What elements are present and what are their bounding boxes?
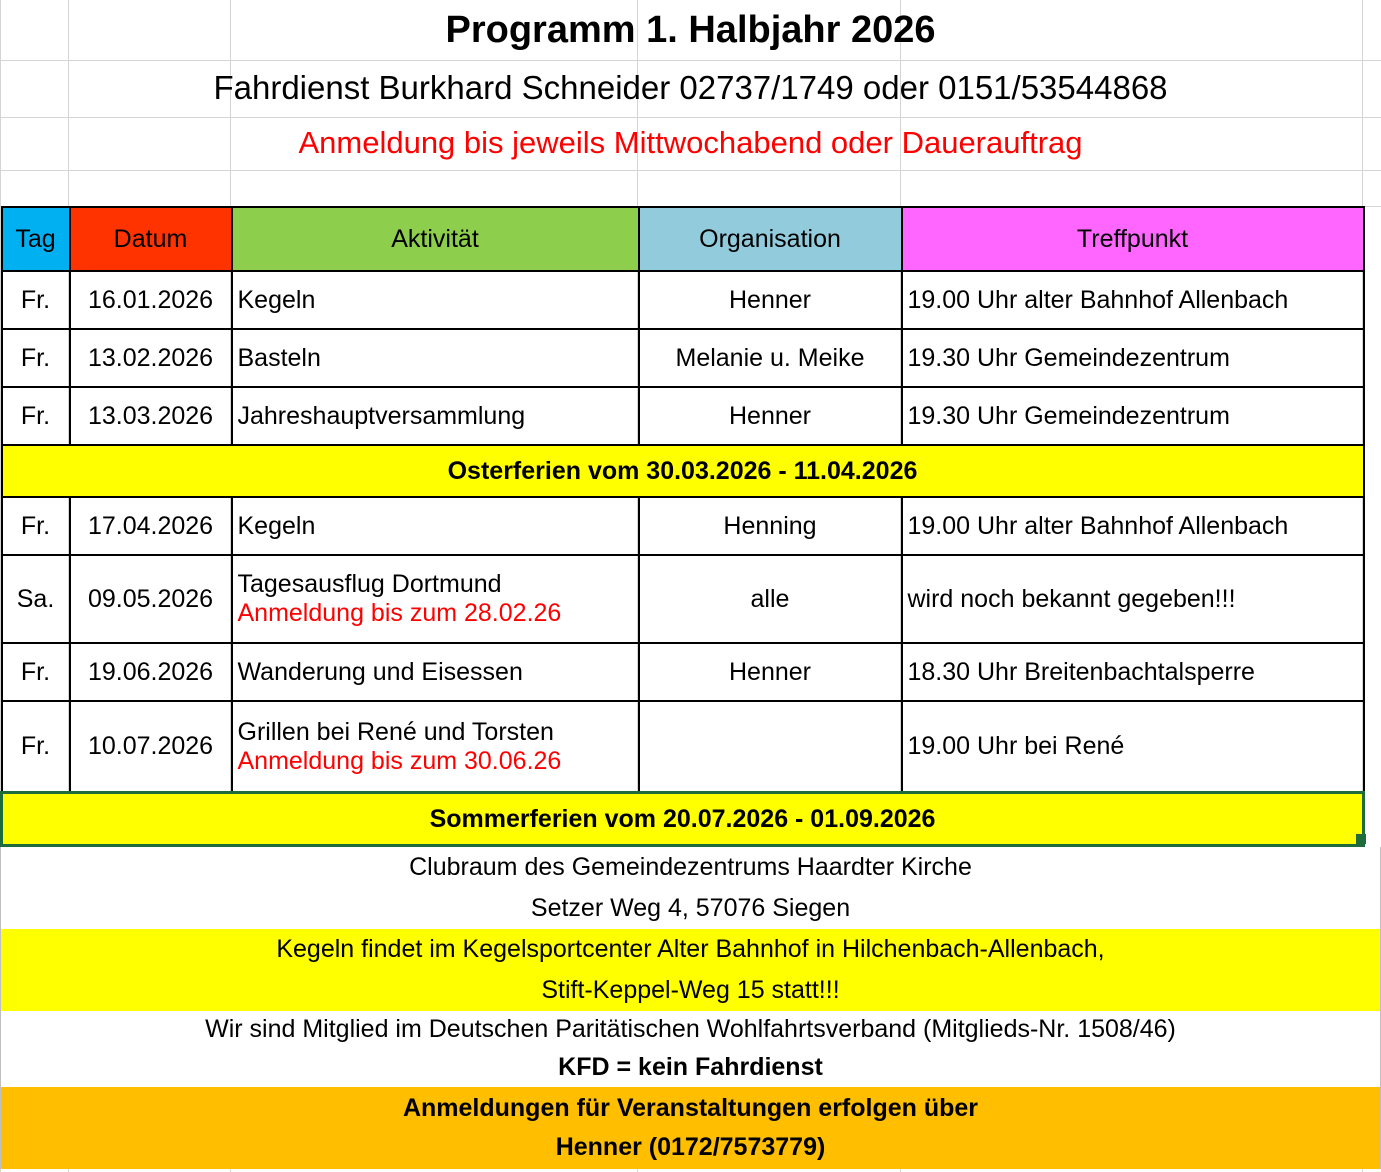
table-header-row: Tag Datum Aktivität Organisation Treffpu…	[2, 207, 1364, 271]
holiday-row-summer: Sommerferien vom 20.07.2026 - 01.09.2026	[2, 793, 1364, 846]
column-header-datum: Datum	[70, 207, 232, 271]
cell-organisation: alle	[639, 555, 902, 643]
cell-aktivitaet: Basteln	[232, 329, 639, 387]
table-row: Fr. 10.07.2026 Grillen bei René und Tors…	[2, 701, 1364, 793]
cell-aktivitaet: Kegeln	[232, 497, 639, 555]
cell-datum: 10.07.2026	[70, 701, 232, 793]
cell-treffpunkt: 19.00 Uhr bei René	[902, 701, 1364, 793]
cell-aktivitaet: Tagesausflug Dortmund Anmeldung bis zum …	[232, 555, 639, 643]
footer-registration-line2: Henner (0172/7573779)	[556, 1128, 826, 1167]
column-header-treffpunkt: Treffpunkt	[902, 207, 1364, 271]
cell-aktivitaet: Jahreshauptversammlung	[232, 387, 639, 445]
footer-kegeln-line1: Kegeln findet im Kegelsportcenter Alter …	[0, 929, 1381, 970]
program-sheet: Programm 1. Halbjahr 2026 Fahrdienst Bur…	[0, 0, 1381, 1169]
subtitle-driving-service: Fahrdienst Burkhard Schneider 02737/1749…	[0, 60, 1381, 116]
cell-tag: Fr.	[2, 643, 70, 701]
spacer-row	[0, 169, 1381, 206]
column-header-organisation: Organisation	[639, 207, 902, 271]
cell-organisation: Melanie u. Meike	[639, 329, 902, 387]
cell-treffpunkt: 19.30 Uhr Gemeindezentrum	[902, 387, 1364, 445]
cell-aktivitaet: Grillen bei René und Torsten Anmeldung b…	[232, 701, 639, 793]
cell-organisation: Henner	[639, 387, 902, 445]
footer-block: Clubraum des Gemeindezentrums Haardter K…	[0, 847, 1381, 1169]
table-row: Fr. 17.04.2026 Kegeln Henning 19.00 Uhr …	[2, 497, 1364, 555]
column-header-aktivitaet: Aktivität	[232, 207, 639, 271]
holiday-label: Sommerferien vom 20.07.2026 - 01.09.2026	[2, 793, 1364, 846]
footer-venue-line2: Setzer Weg 4, 57076 Siegen	[0, 888, 1381, 929]
footer-venue-line1: Clubraum des Gemeindezentrums Haardter K…	[0, 847, 1381, 888]
footer-membership: Wir sind Mitglied im Deutschen Paritätis…	[0, 1011, 1381, 1049]
title-block: Programm 1. Halbjahr 2026 Fahrdienst Bur…	[0, 0, 1381, 206]
cell-organisation: Henning	[639, 497, 902, 555]
table-row: Fr. 19.06.2026 Wanderung und Eisessen He…	[2, 643, 1364, 701]
activity-title: Tagesausflug Dortmund	[238, 570, 633, 599]
cell-tag: Fr.	[2, 701, 70, 793]
cell-datum: 19.06.2026	[70, 643, 232, 701]
table-row: Fr. 13.03.2026 Jahreshauptversammlung He…	[2, 387, 1364, 445]
table-row: Sa. 09.05.2026 Tagesausflug Dortmund Anm…	[2, 555, 1364, 643]
cell-treffpunkt: wird noch bekannt gegeben!!!	[902, 555, 1364, 643]
cell-aktivitaet: Wanderung und Eisessen	[232, 643, 639, 701]
activity-deadline-note: Anmeldung bis zum 30.06.26	[238, 747, 633, 776]
cell-treffpunkt: 19.30 Uhr Gemeindezentrum	[902, 329, 1364, 387]
holiday-row-easter: Osterferien vom 30.03.2026 - 11.04.2026	[2, 445, 1364, 497]
table-row: Fr. 13.02.2026 Basteln Melanie u. Meike …	[2, 329, 1364, 387]
cell-organisation: Henner	[639, 271, 902, 329]
cell-tag: Fr.	[2, 387, 70, 445]
cell-tag: Sa.	[2, 555, 70, 643]
cell-aktivitaet: Kegeln	[232, 271, 639, 329]
footer-kfd-legend: KFD = kein Fahrdienst	[0, 1049, 1381, 1087]
cell-treffpunkt: 19.00 Uhr alter Bahnhof Allenbach	[902, 271, 1364, 329]
cell-tag: Fr.	[2, 271, 70, 329]
cell-tag: Fr.	[2, 329, 70, 387]
cell-datum: 17.04.2026	[70, 497, 232, 555]
cell-organisation	[639, 701, 902, 793]
cell-treffpunkt: 19.00 Uhr alter Bahnhof Allenbach	[902, 497, 1364, 555]
program-table: Tag Datum Aktivität Organisation Treffpu…	[0, 206, 1365, 847]
cell-organisation: Henner	[639, 643, 902, 701]
notice-registration: Anmeldung bis jeweils Mittwochabend oder…	[0, 116, 1381, 169]
activity-title: Grillen bei René und Torsten	[238, 718, 633, 747]
footer-kegeln-line2: Stift-Keppel-Weg 15 statt!!!	[0, 970, 1381, 1011]
cell-datum: 13.03.2026	[70, 387, 232, 445]
column-header-tag: Tag	[2, 207, 70, 271]
footer-registration-block: Anmeldungen für Veranstaltungen erfolgen…	[0, 1087, 1381, 1169]
activity-deadline-note: Anmeldung bis zum 28.02.26	[238, 599, 633, 628]
cell-datum: 16.01.2026	[70, 271, 232, 329]
selection-handle[interactable]	[1356, 834, 1366, 844]
holiday-label: Osterferien vom 30.03.2026 - 11.04.2026	[2, 445, 1364, 497]
footer-registration-line1: Anmeldungen für Veranstaltungen erfolgen…	[403, 1089, 978, 1128]
cell-treffpunkt: 18.30 Uhr Breitenbachtalsperre	[902, 643, 1364, 701]
table-row: Fr. 16.01.2026 Kegeln Henner 19.00 Uhr a…	[2, 271, 1364, 329]
cell-datum: 09.05.2026	[70, 555, 232, 643]
cell-tag: Fr.	[2, 497, 70, 555]
cell-datum: 13.02.2026	[70, 329, 232, 387]
page-title: Programm 1. Halbjahr 2026	[0, 0, 1381, 60]
